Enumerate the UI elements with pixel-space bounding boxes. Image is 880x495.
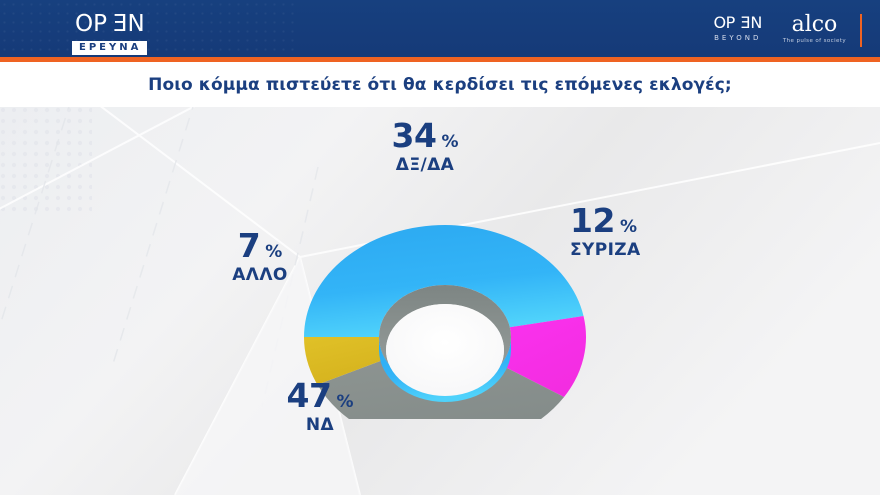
percent-sign-syriza: % [620,219,637,236]
alco-wordmark: alco [783,14,846,36]
category-syriza: ΣΥΡΙΖΑ [570,242,730,259]
category-dxda: ΔΞ/ΔΑ [330,157,520,174]
open-ereyna-logo: OPEN ΕΡΕΥΝΑ [72,13,202,51]
data-label-syriza: 12 % ΣΥΡΙΖΑ [570,204,730,259]
value-allo: 7 [238,229,260,262]
orange-accent-tick [860,14,862,47]
percent-sign-dxda: % [441,134,458,151]
percent-sign-allo: % [265,244,282,261]
value-nd: 47 [287,379,332,412]
alco-tagline: The pulse of society [783,37,846,45]
data-label-nd: 47 % ΝΔ [240,379,400,434]
page-title: Ποιο κόμμα πιστεύετε ότι θα κερδίσει τις… [148,75,732,95]
data-label-dxda: 34 % ΔΞ/ΔΑ [330,119,520,174]
open-beyond-logo: OPEN BEYOND [711,14,765,43]
slide-root: OPEN ΕΡΕΥΝΑ OPEN BEYOND alco The pulse o… [0,0,880,495]
chart-stage: 34 % ΔΞ/ΔΑ 12 % ΣΥΡΙΖΑ 7 % ΑΛΛΟ 47 % Ν [0,107,880,495]
value-syriza: 12 [570,204,615,237]
value-dxda: 34 [392,119,437,152]
donut-hole-top [386,304,504,396]
data-label-allo: 7 % ΑΛΛΟ [185,229,335,284]
title-band: Ποιο κόμμα πιστεύετε ότι θα κερδίσει τις… [0,62,880,107]
ereyna-badge: ΕΡΕΥΝΑ [72,41,147,55]
open-beyond-wordmark: OPEN [711,15,765,31]
category-allo: ΑΛΛΟ [185,267,335,284]
percent-sign-nd: % [336,394,353,411]
open-beyond-sub: BEYOND [711,34,765,43]
open-wordmark: OPEN [72,13,202,35]
partner-logos: OPEN BEYOND alco The pulse of society [711,14,862,50]
alco-logo: alco The pulse of society [783,14,846,45]
category-nd: ΝΔ [240,417,400,434]
header-bar: OPEN ΕΡΕΥΝΑ OPEN BEYOND alco The pulse o… [0,0,880,57]
